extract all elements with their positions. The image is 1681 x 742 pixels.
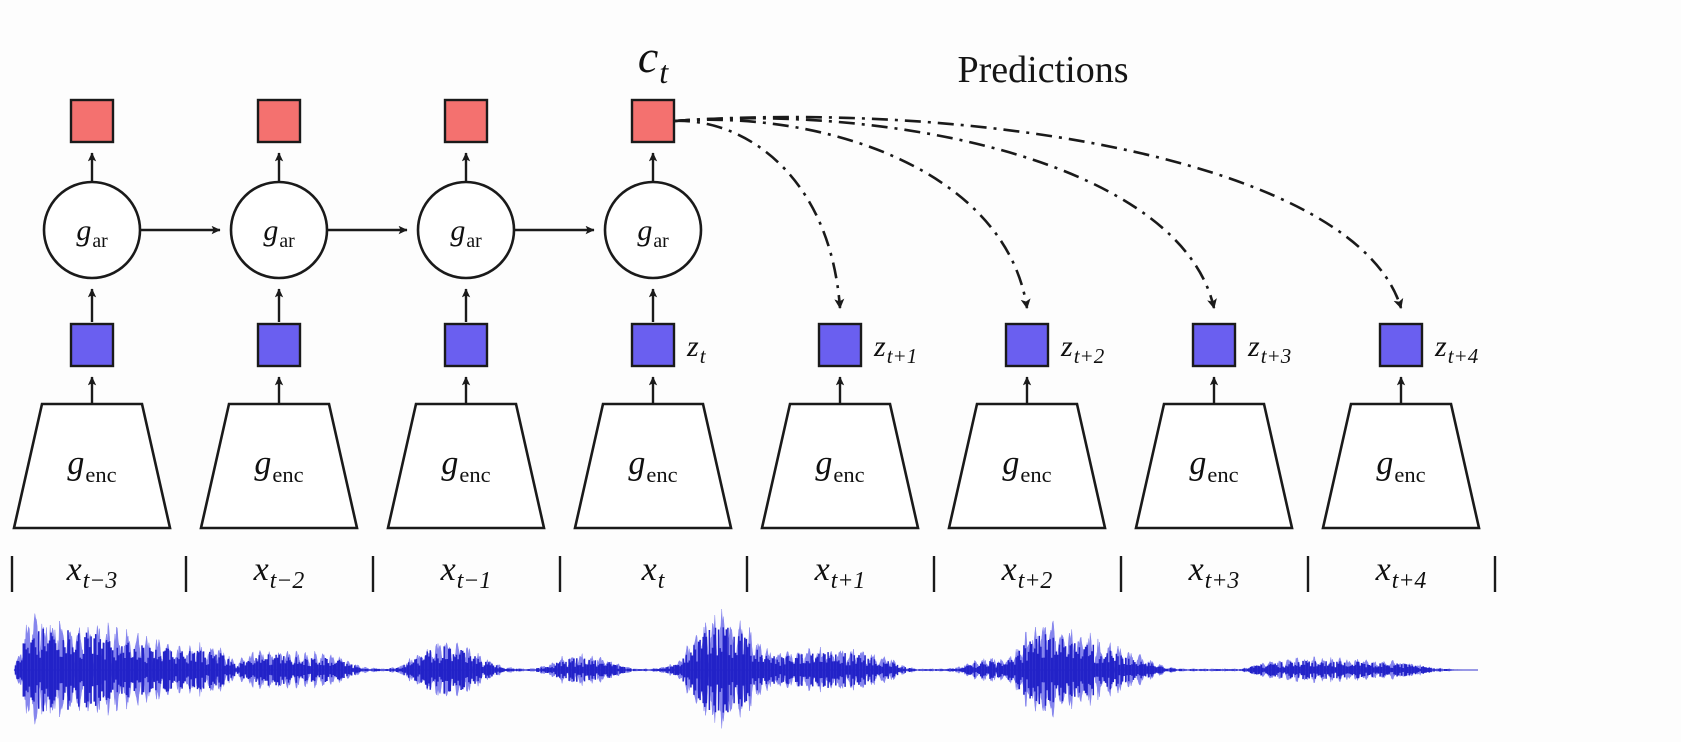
columns-layer: gencgargencgargencgargencztgargenczt+1ge… (14, 100, 1479, 528)
predictions-label: Predictions (958, 49, 1129, 91)
cpc-architecture-diagram: gencgargencgargencgargencztgargenczt+1ge… (0, 0, 1681, 742)
latent-label-t+1: zt+1 (873, 330, 917, 368)
timestep-column-t+4: genczt+4 (1323, 324, 1479, 528)
context-square-t-3[interactable] (71, 100, 113, 142)
x-label-t+2: xt+2 (1001, 551, 1053, 594)
timestep-column-t+2: genczt+2 (949, 324, 1105, 528)
latent-square-t-1[interactable] (445, 324, 487, 366)
latent-square-t+3[interactable] (1193, 324, 1235, 366)
latent-square-t+2[interactable] (1006, 324, 1048, 366)
context-square-t-1[interactable] (445, 100, 487, 142)
latent-square-t+4[interactable] (1380, 324, 1422, 366)
timestep-column-t+1: genczt+1 (762, 324, 918, 528)
x-label-t: xt (641, 551, 666, 594)
x-label-t-2: xt−2 (253, 551, 305, 594)
prediction-arrows-layer (674, 117, 1401, 308)
timestep-column-t+3: genczt+3 (1136, 324, 1292, 528)
context-square-t-2[interactable] (258, 100, 300, 142)
latent-square-t-3[interactable] (71, 324, 113, 366)
timestep-column-t-1: gencgar (388, 100, 594, 528)
static-structure (12, 556, 1495, 592)
latent-square-t+1[interactable] (819, 324, 861, 366)
timestep-column-t-3: gencgar (14, 100, 220, 528)
latent-label-t+4: zt+4 (1434, 330, 1479, 368)
waveform-layer (14, 609, 1478, 728)
context-square-t[interactable] (632, 100, 674, 142)
latent-label-t+3: zt+3 (1247, 330, 1291, 368)
prediction-arc-t-to-t+3 (674, 118, 1214, 308)
x-label-t+3: xt+3 (1188, 551, 1240, 594)
latent-square-t[interactable] (632, 324, 674, 366)
x-label-t+1: xt+1 (814, 551, 866, 594)
prediction-arc-t-to-t+2 (674, 120, 1027, 308)
prediction-arc-t-to-t+4 (674, 117, 1401, 308)
x-label-t+4: xt+4 (1375, 551, 1427, 594)
x-label-t-3: xt−3 (66, 551, 118, 594)
latent-square-t-2[interactable] (258, 324, 300, 366)
latent-label-t: zt (686, 330, 707, 368)
x-label-t-1: xt−1 (440, 551, 492, 594)
timestep-column-t-2: gencgar (201, 100, 407, 528)
figure-canvas: gencgargencgargencgargencztgargenczt+1ge… (0, 0, 1681, 742)
timestep-column-t: gencztgar (575, 100, 731, 528)
context-title-label: ct (638, 31, 669, 90)
latent-label-t+2: zt+2 (1060, 330, 1105, 368)
